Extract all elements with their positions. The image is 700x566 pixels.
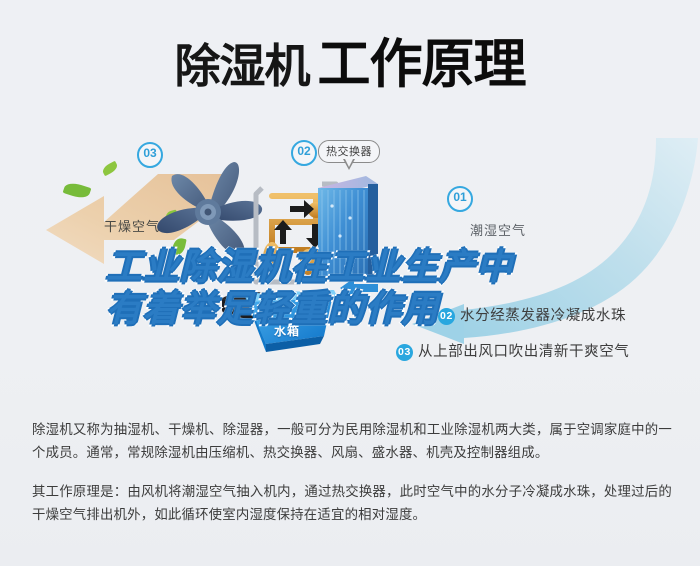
page-title: 除湿机工作原理 — [0, 22, 700, 98]
overlay-headline-line2: 有着举足轻重的作用 — [106, 288, 606, 330]
body-paragraph-1: 除湿机又称为抽湿机、干燥机、除湿器，一般可分为民用除湿机和工业除湿机两大类，属于… — [32, 418, 672, 464]
dry-air-label: 干燥空气 — [104, 216, 160, 235]
page-title-part2: 工作原理 — [318, 35, 526, 94]
article-body: 除湿机又称为抽湿机、干燥机、除湿器，一般可分为民用除湿机和工业除湿机两大类，属于… — [32, 418, 672, 526]
step-badge-02: 02 — [291, 140, 317, 166]
overlay-headline-line1: 工业除湿机在工业生产中 — [106, 246, 606, 288]
process-note-03: 03从上部出风口吹出清新干爽空气 — [396, 340, 629, 361]
infographic-page: 除湿机工作原理 — [0, 0, 700, 566]
overlay-headline: 工业除湿机在工业生产中 有着举足轻重的作用 — [106, 246, 606, 330]
humid-air-label: 潮湿空气 — [470, 220, 526, 239]
body-paragraph-2: 其工作原理是：由风机将潮湿空气抽入机内，通过热交换器，此时空气中的水分子冷凝成水… — [32, 480, 672, 526]
note-number-03: 03 — [396, 344, 413, 361]
callout-pointer-icon — [343, 159, 355, 170]
step-badge-03: 03 — [137, 142, 163, 168]
step-badge-01: 01 — [447, 186, 473, 212]
page-title-part1: 除湿机 — [175, 40, 310, 92]
note-text-03: 从上部出风口吹出清新干爽空气 — [418, 344, 629, 360]
